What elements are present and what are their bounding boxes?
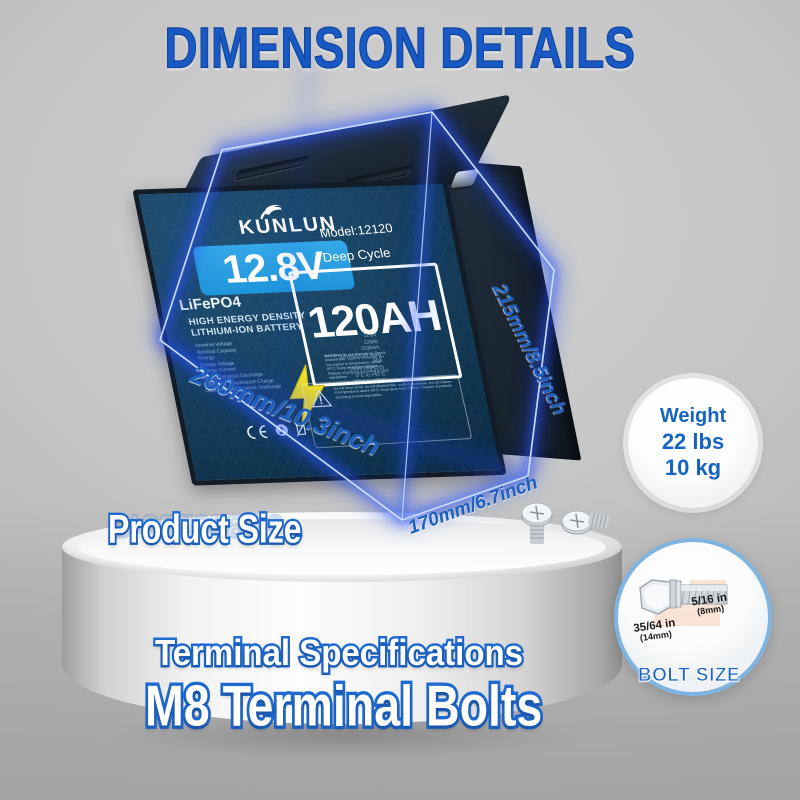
weight-badge: Weight 22 lbs 10 kg [628,378,758,508]
capacity-value: 120AH [295,291,453,349]
weight-imperial: 22 lbs [662,429,724,455]
certification-text: Do not short circuit. Do not disassemble… [333,380,455,400]
loose-bolts-photo [505,498,615,568]
heading-terminal-specifications: Terminal Specifications [155,632,523,674]
bolt-right [562,511,610,534]
bolt-size-caption: BOLT SIZE [614,665,764,687]
page-title: DIMENSION DETAILS [12,14,788,81]
bolt-left [522,503,552,544]
weight-label: Weight [660,405,726,429]
heading-product-size: Product Size [108,507,302,553]
ce-mark-icon [244,424,269,439]
weight-metric: 10 kg [665,455,721,481]
chemistry-label: LiFePO4 [178,294,243,314]
warning-text-block: WARNING Do not short circuit. Do not dis… [324,351,392,381]
infographic-canvas: DIMENSION DETAILS Product Size [0,0,800,800]
heading-m8-terminal-bolts: M8 Terminal Bolts [145,672,542,739]
battery-subtitle: HIGH ENERGY DENSITY LITHIUM-ION BATTERY [188,310,310,339]
